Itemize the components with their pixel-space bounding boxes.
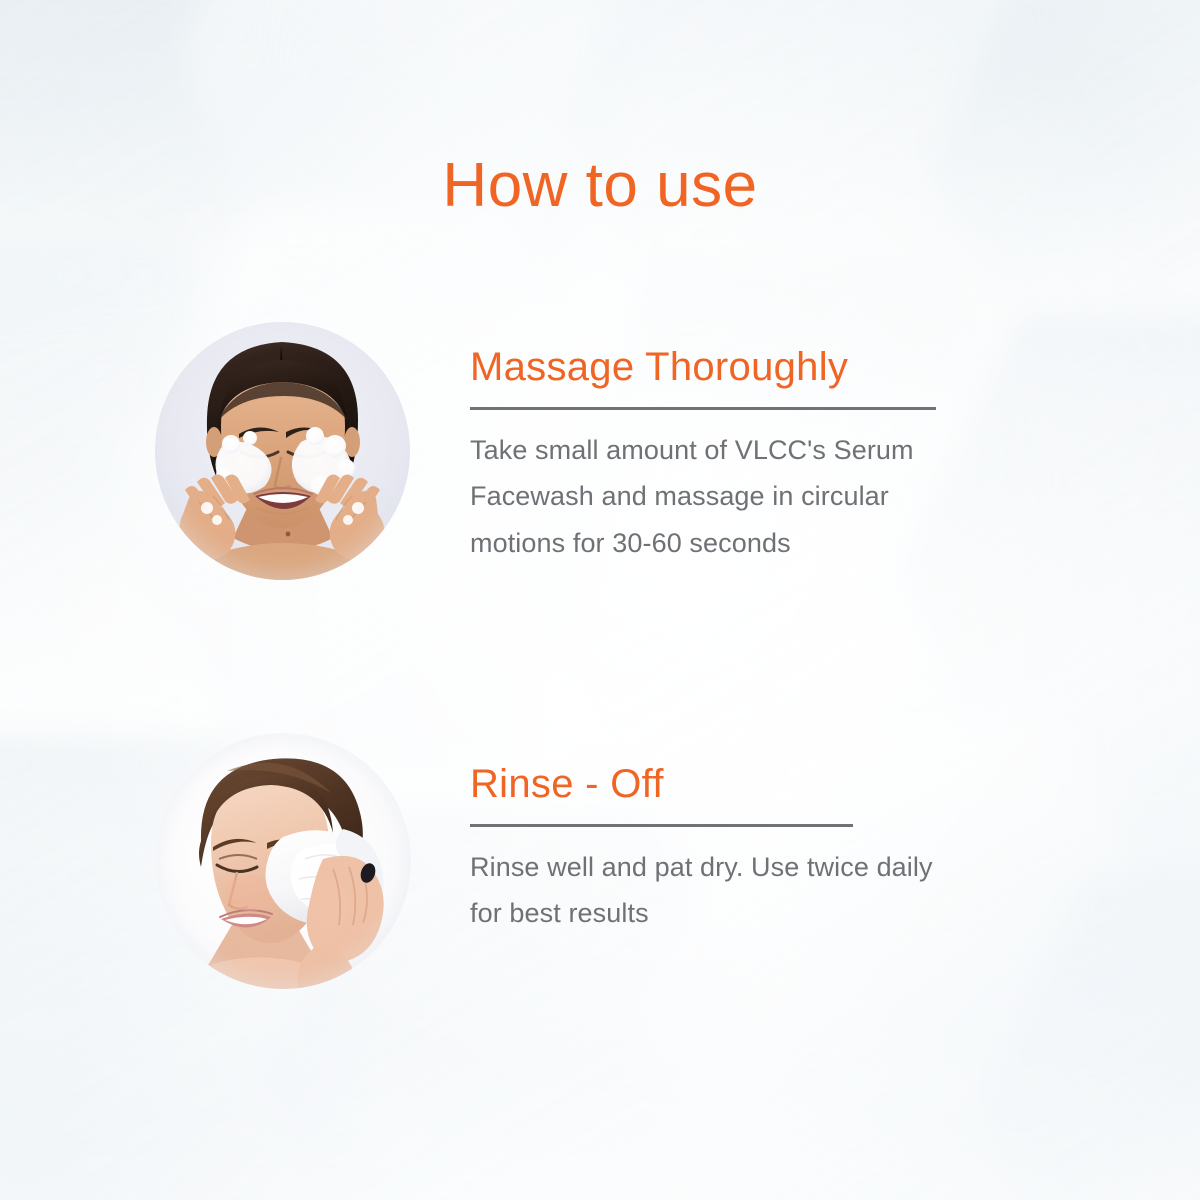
step-item-massage: Massage Thoroughly Take small amount of … — [155, 322, 410, 580]
step-text-massage: Massage Thoroughly Take small amount of … — [470, 346, 970, 566]
step-body-massage: Take small amount of VLCC's Serum Facewa… — [470, 427, 970, 566]
step-image-rinse — [155, 733, 411, 989]
step-image-massage — [155, 322, 410, 580]
step-heading-massage: Massage Thoroughly — [470, 346, 970, 388]
step-heading-rinse: Rinse - Off — [470, 763, 970, 805]
how-to-use-banner: How to use — [0, 0, 1200, 1200]
page-title: How to use — [0, 155, 1200, 217]
step-divider — [470, 407, 936, 410]
step-text-rinse: Rinse - Off Rinse well and pat dry. Use … — [470, 763, 970, 937]
step-divider — [470, 824, 853, 827]
step-body-rinse: Rinse well and pat dry. Use twice daily … — [470, 844, 970, 937]
step-item-rinse: Rinse - Off Rinse well and pat dry. Use … — [155, 733, 411, 989]
